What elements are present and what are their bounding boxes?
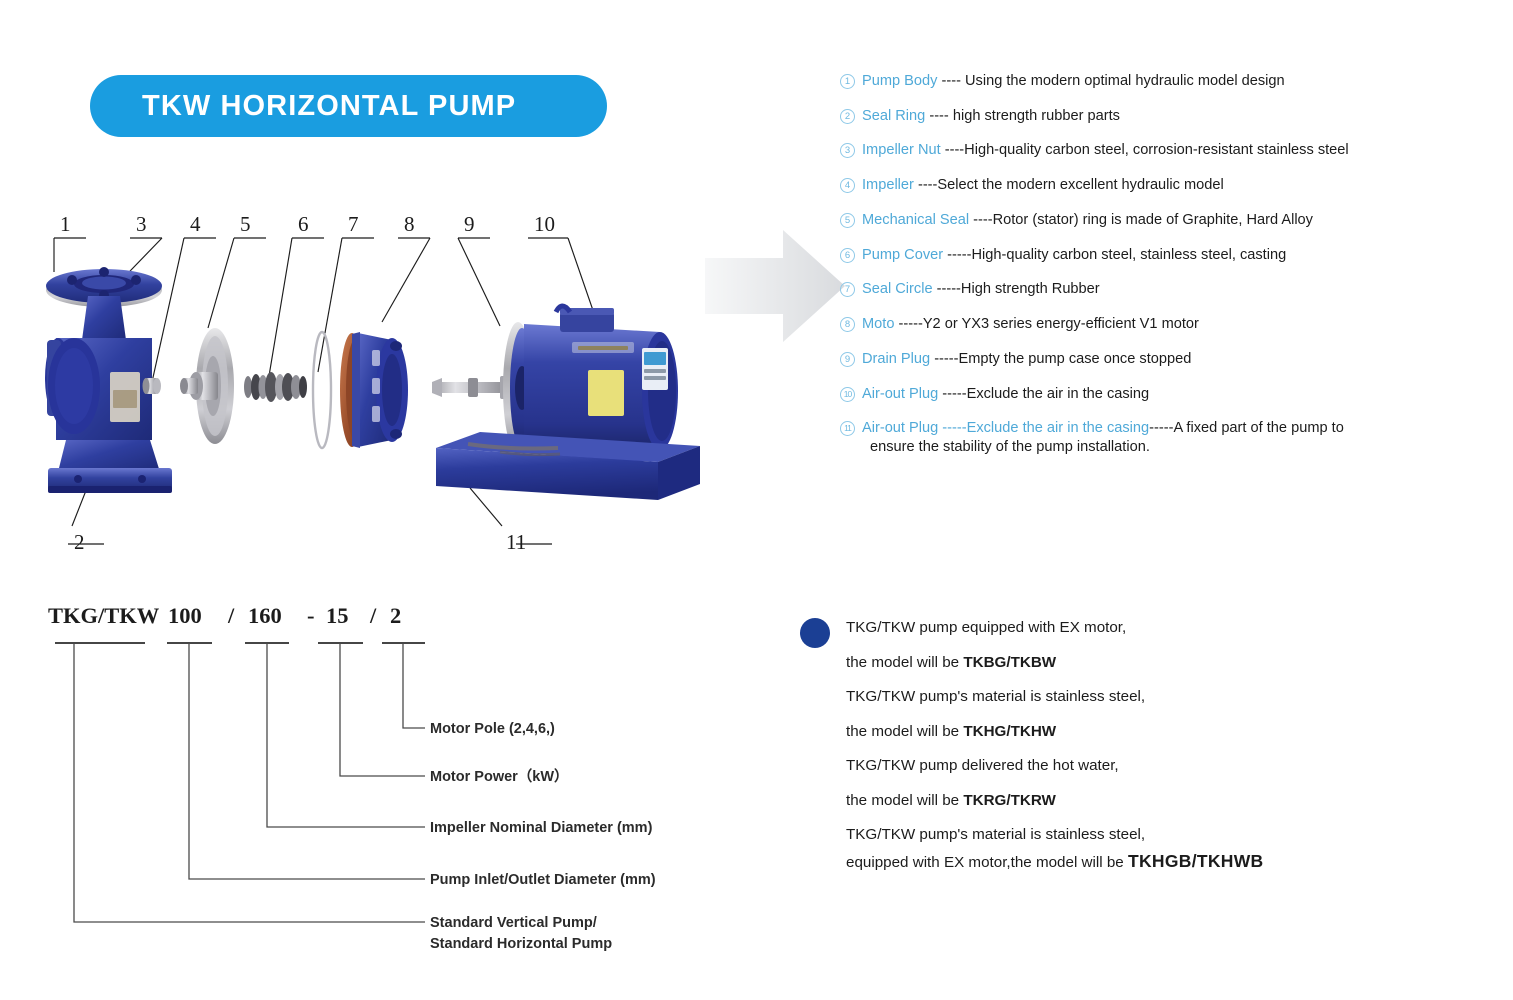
legend-number-circle-1: 1 — [840, 74, 855, 89]
legend-dash-8: ----- — [894, 316, 922, 332]
legend-number-circle-5: 5 — [840, 213, 855, 228]
legend-item-6: 6 Pump Cover -----High-quality carbon st… — [840, 246, 1500, 264]
legend-part-name-7: Seal Circle — [862, 281, 933, 297]
legend-item-2: 2 Seal Ring ---- high strength rubber pa… — [840, 107, 1500, 125]
variant-line-3: TKG/TKW pump's material is stainless ste… — [846, 687, 1486, 708]
variant-line-8: equipped with EX motor,the model will be… — [846, 850, 1486, 874]
legend-number-circle-4: 4 — [840, 178, 855, 193]
legend-desc-2: high strength rubber parts — [953, 108, 1120, 124]
variant-line-1: TKG/TKW pump equipped with EX motor, — [846, 618, 1486, 639]
legend-item-3: 3 Impeller Nut ----High-quality carbon s… — [840, 141, 1500, 159]
legend-part-name-10: Air-out Plug — [862, 386, 938, 402]
variant-line-6-text: the model will be TKRG/TKRW — [846, 792, 1056, 809]
variant-line-2: the model will be TKBG/TKBW — [846, 653, 1486, 674]
legend-item-5-text: Mechanical Seal ----Rotor (stator) ring … — [862, 211, 1313, 229]
variant-line-1-text: TKG/TKW pump equipped with EX motor, — [846, 619, 1126, 636]
legend-desc-4: Select the modern excellent hydraulic mo… — [937, 177, 1223, 193]
legend-desc-1: Using the modern optimal hydraulic model… — [965, 73, 1285, 89]
legend-dash-4: ---- — [914, 177, 938, 193]
legend-desc-11-blue: Exclude the air in the casing — [967, 420, 1150, 436]
legend-dash-5: ---- — [969, 212, 993, 228]
legend-item-11: 11 Air-out Plug -----Exclude the air in … — [840, 419, 1500, 455]
variant-line-8-text: equipped with EX motor,the model will be — [846, 854, 1128, 871]
variant-line-2-text: the model will be TKBG/TKBW — [846, 654, 1056, 671]
variant-line-4: the model will be TKHG/TKHW — [846, 722, 1486, 743]
legend-part-name-4: Impeller — [862, 177, 914, 193]
legend-part-name-2: Seal Ring — [862, 108, 925, 124]
designation-bracket-lines — [0, 595, 760, 975]
label-standard-pump-line2: Standard Horizontal Pump — [430, 936, 612, 952]
legend-item-5: 5 Mechanical Seal ----Rotor (stator) rin… — [840, 211, 1500, 229]
variant-line-7: TKG/TKW pump's material is stainless ste… — [846, 825, 1486, 846]
legend-item-7-text: Seal Circle -----High strength Rubber — [862, 280, 1100, 298]
legend-item-11-text: Air-out Plug -----Exclude the air in the… — [862, 419, 1344, 455]
legend-desc-10: Exclude the air in the casing — [967, 386, 1150, 402]
legend-item-8: 8 Moto -----Y2 or YX3 series energy-effi… — [840, 315, 1500, 333]
legend-item-3-text: Impeller Nut ----High-quality carbon ste… — [862, 141, 1349, 159]
legend-item-9: 9 Drain Plug -----Empty the pump case on… — [840, 350, 1500, 368]
legend-item-2-text: Seal Ring ---- high strength rubber part… — [862, 107, 1120, 125]
legend-item-10-text: Air-out Plug -----Exclude the air in the… — [862, 385, 1149, 403]
variant-line-4-text: the model will be TKHG/TKHW — [846, 723, 1056, 740]
legend-number-circle-3: 3 — [840, 143, 855, 158]
legend-part-name-6: Pump Cover — [862, 247, 943, 263]
legend-dash-11b: ----- — [1149, 420, 1173, 436]
legend-part-name-11: Air-out Plug — [862, 420, 938, 436]
legend-number-circle-11: 11 — [840, 421, 855, 436]
legend-number-circle-10: 10 — [840, 387, 855, 402]
variant-line-3-text: TKG/TKW pump's material is stainless ste… — [846, 688, 1145, 705]
legend-desc-11-continuation: ensure the stability of the pump install… — [870, 438, 1344, 456]
legend-desc-6: High-quality carbon steel, stainless ste… — [971, 247, 1286, 263]
legend-number-circle-8: 8 — [840, 317, 855, 332]
legend-part-name-3: Impeller Nut — [862, 142, 941, 158]
legend-item-6-text: Pump Cover -----High-quality carbon stee… — [862, 246, 1286, 264]
page-title: TKW HORIZONTAL PUMP — [142, 90, 516, 123]
legend-part-name-9: Drain Plug — [862, 351, 930, 367]
label-motor-power: Motor Power（kW） — [430, 767, 569, 788]
legend-desc-8: Y2 or YX3 series energy-efficient V1 mot… — [923, 316, 1199, 332]
legend-dash-3: ---- — [941, 142, 965, 158]
bullet-dot-icon — [800, 618, 830, 648]
legend-dash-10: ----- — [938, 386, 966, 402]
exploded-pump-diagram: 1 3 4 5 6 7 8 9 10 2 11 — [0, 200, 700, 580]
page-title-banner: TKW HORIZONTAL PUMP — [90, 75, 607, 137]
legend-item-8-text: Moto -----Y2 or YX3 series energy-effici… — [862, 315, 1199, 333]
legend-part-name-8: Moto — [862, 316, 894, 332]
legend-dash-9: ----- — [930, 351, 958, 367]
legend-item-1: 1 Pump Body ---- Using the modern optima… — [840, 72, 1500, 90]
legend-item-1-text: Pump Body ---- Using the modern optimal … — [862, 72, 1285, 90]
parts-legend-list: 1 Pump Body ---- Using the modern optima… — [840, 72, 1500, 472]
label-standard-pump-line1: Standard Vertical Pump/ — [430, 915, 597, 931]
legend-part-name-5: Mechanical Seal — [862, 212, 969, 228]
variant-line-5-text: TKG/TKW pump delivered the hot water, — [846, 757, 1119, 774]
legend-item-4: 4 Impeller ----Select the modern excelle… — [840, 176, 1500, 194]
legend-dash-1: ---- — [937, 73, 965, 89]
label-impeller-diameter: Impeller Nominal Diameter (mm) — [430, 818, 652, 839]
legend-desc-9: Empty the pump case once stopped — [959, 351, 1192, 367]
variant-line-8-model: TKHGB/TKHWB — [1128, 851, 1264, 871]
legend-desc-11-black: A fixed part of the pump to — [1173, 420, 1343, 436]
legend-desc-3: High-quality carbon steel, corrosion-res… — [964, 142, 1348, 158]
label-standard-pump: Standard Vertical Pump/Standard Horizont… — [430, 913, 612, 955]
legend-dash-6: ----- — [943, 247, 971, 263]
variant-line-5: TKG/TKW pump delivered the hot water, — [846, 756, 1486, 777]
legend-dash-11: ----- — [938, 420, 966, 436]
legend-number-circle-9: 9 — [840, 352, 855, 367]
label-motor-pole: Motor Pole (2,4,6,) — [430, 719, 555, 740]
legend-dash-2: ---- — [925, 108, 953, 124]
variant-note-lines: TKG/TKW pump equipped with EX motor, the… — [846, 618, 1486, 887]
legend-item-9-text: Drain Plug -----Empty the pump case once… — [862, 350, 1191, 368]
pump-spec-sheet: TKW HORIZONTAL PUMP 1 3 4 5 6 7 8 9 10 2… — [0, 0, 1513, 1000]
legend-number-circle-6: 6 — [840, 248, 855, 263]
label-inlet-outlet-diameter: Pump Inlet/Outlet Diameter (mm) — [430, 870, 656, 891]
legend-desc-7: High strength Rubber — [961, 281, 1100, 297]
legend-item-4-text: Impeller ----Select the modern excellent… — [862, 176, 1224, 194]
variant-line-7-text: TKG/TKW pump's material is stainless ste… — [846, 826, 1145, 843]
legend-item-10: 10 Air-out Plug -----Exclude the air in … — [840, 385, 1500, 403]
variant-line-6: the model will be TKRG/TKRW — [846, 791, 1486, 812]
legend-part-name-1: Pump Body — [862, 73, 937, 89]
model-designation-diagram: TKG/TKW 100 / 160 - 15 / 2 — [0, 595, 760, 975]
legend-number-circle-2: 2 — [840, 109, 855, 124]
pump-parts-illustration — [0, 200, 700, 580]
legend-desc-5: Rotor (stator) ring is made of Graphite,… — [993, 212, 1313, 228]
legend-item-7: 7 Seal Circle -----High strength Rubber — [840, 280, 1500, 298]
legend-dash-7: ----- — [933, 281, 961, 297]
flow-arrow-icon — [705, 228, 845, 346]
legend-number-circle-7: 7 — [840, 282, 855, 297]
